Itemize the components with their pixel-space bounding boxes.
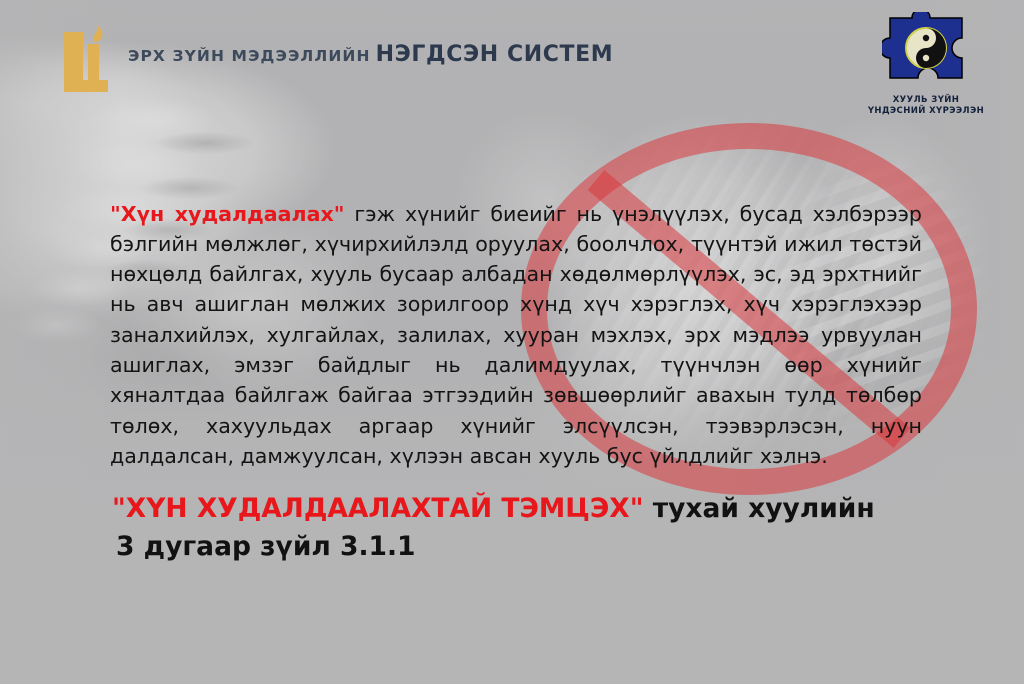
law-citation: "ХҮН ХУДАЛДААЛАХТАЙ ТЭМЦЭХ" тухай хуулий… <box>112 490 942 566</box>
logo-line-2: НЭГДСЭН СИСТЕМ <box>376 42 614 67</box>
yin-yang-puzzle-icon <box>856 12 996 90</box>
national-legal-institute-logo: ХУУЛЬ ЗҮЙН ҮНДЭСНИЙ ХҮРЭЭЛЭН <box>856 12 996 118</box>
logo-line-1: ЭРХ ЗҮЙН МЭДЭЭЛЛИЙН <box>128 47 371 65</box>
emblem-caption-line-2: ҮНДЭСНИЙ ХҮРЭЭЛЭН <box>868 106 984 116</box>
law-title-suffix: тухай хуулийн <box>644 493 875 524</box>
li-torch-icon <box>58 14 114 96</box>
poster-canvas: ЭРХ ЗҮЙН МЭДЭЭЛЛИЙН НЭГДСЭН СИСТЕМ ХУУЛЬ… <box>0 0 1024 684</box>
definition-text: гэж хүнийг биеийг нь үнэлүүлэх, бусад хэ… <box>110 202 922 468</box>
law-article: 3 дугаар зүйл 3.1.1 <box>116 528 942 566</box>
emblem-caption: ХУУЛЬ ЗҮЙН ҮНДЭСНИЙ ХҮРЭЭЛЭН <box>856 95 996 118</box>
definition-term: "Хүн худалдаалах" <box>110 202 345 226</box>
law-title: "ХҮН ХУДАЛДААЛАХТАЙ ТЭМЦЭХ" <box>112 493 644 524</box>
emblem-caption-line-1: ХУУЛЬ ЗҮЙН <box>893 95 960 105</box>
logo-wordmark: ЭРХ ЗҮЙН МЭДЭЭЛЛИЙН НЭГДСЭН СИСТЕМ <box>128 43 613 68</box>
legal-info-system-logo: ЭРХ ЗҮЙН МЭДЭЭЛЛИЙН НЭГДСЭН СИСТЕМ <box>58 14 613 96</box>
definition-paragraph: "Хүн худалдаалах" гэж хүнийг биеийг нь ү… <box>110 199 922 472</box>
